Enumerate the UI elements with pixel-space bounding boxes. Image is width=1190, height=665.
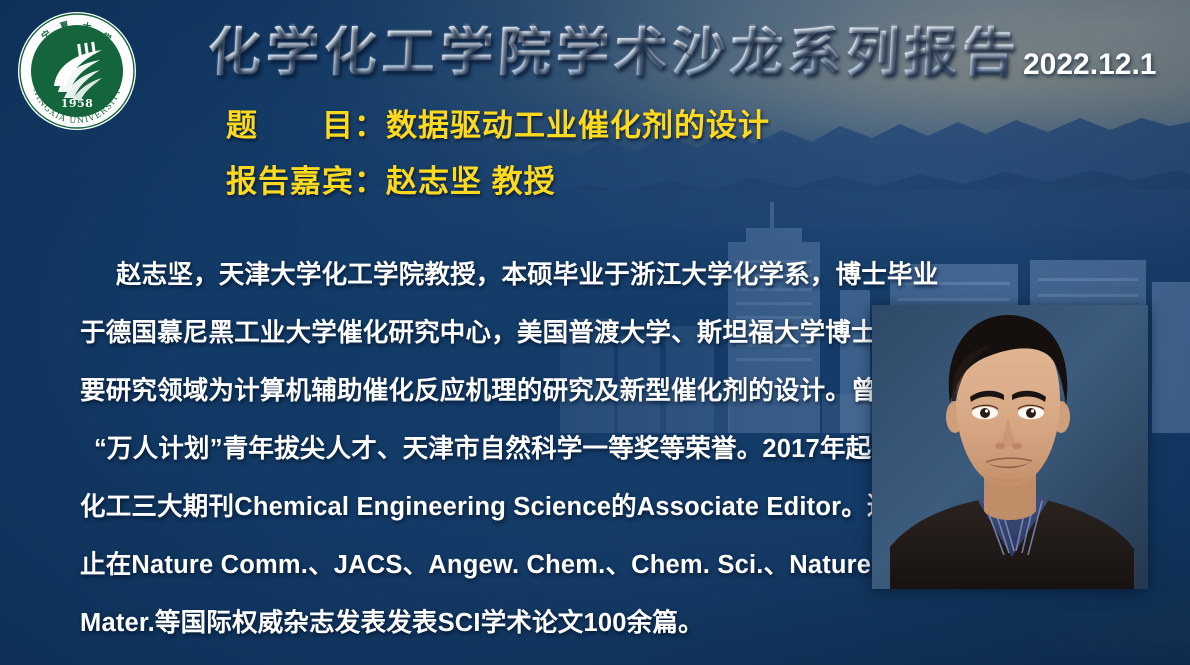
ningxia-university-logo: 宁 夏 大 学 1958 NINGXIA UNIVERSITY [16, 10, 138, 132]
poster-headline: 化学化工学院学术沙龙系列报告 [207, 26, 1022, 80]
bio-line: 化工三大期刊Chemical Engineering Science的Assoc… [80, 479, 870, 537]
bio-line: 于德国慕尼黑工业大学催化研究中心，美国普渡大学、斯坦福大学博士后。主 [80, 305, 870, 363]
poster-date: 2022.12.1 [1023, 48, 1156, 82]
speaker-portrait [872, 305, 1148, 589]
bio-line: 止在Nature Comm.、JACS、Angew. Chem.、Chem. S… [80, 537, 870, 595]
svg-text:1958: 1958 [61, 97, 94, 110]
bio-line: 要研究领域为计算机辅助催化反应机理的研究及新型催化剂的设计。曾获 [80, 363, 870, 421]
bio-line: 赵志坚，天津大学化工学院教授，本硕毕业于浙江大学化学系，博士毕业 [80, 247, 870, 305]
seminar-topic-line: 题 目：数据驱动工业催化剂的设计 [226, 100, 770, 145]
seminar-poster: 宁 夏 大 学 1958 NINGXIA UNIVERSITY 化学化工学院学术… [0, 0, 1190, 665]
speaker-biography: 赵志坚，天津大学化工学院教授，本硕毕业于浙江大学化学系，博士毕业 于德国慕尼黑工… [80, 247, 870, 653]
seminar-speaker-line: 报告嘉宾：赵志坚 教授 [226, 156, 556, 201]
bio-line: Mater.等国际权威杂志发表发表SCI学术论文100余篇。 [80, 595, 870, 653]
bio-line: “万人计划”青年拔尖人才、天津市自然科学一等奖等荣誉。2017年起担任 [80, 421, 870, 479]
